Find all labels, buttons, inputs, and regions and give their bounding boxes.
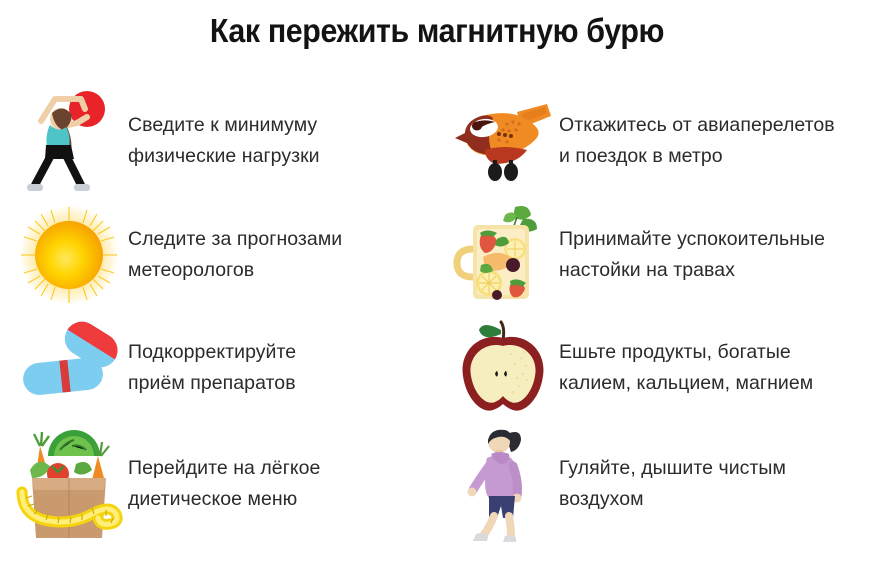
herbal-drink-mug-icon [451, 201, 555, 309]
page-title: Как пережить магнитную бурю [35, 12, 839, 50]
walking-woman-icon [451, 430, 555, 538]
tip-take-herbal-sedatives: Принимайте успокоительные настойки на тр… [437, 198, 874, 312]
tip-walk-and-breathe-fresh-air: Гуляйте, дышите чистым воздухом [437, 424, 874, 544]
halved-apple-icon [451, 314, 555, 422]
pills-capsules-icon [14, 314, 124, 422]
tip-text: Сведите к минимуму физические нагрузки [128, 110, 320, 172]
grocery-bag-measuring-tape-icon [14, 430, 124, 538]
tip-text: Перейдите на лёгкое диетическое меню [128, 453, 320, 515]
tip-text: Откажитесь от авиаперелетов и поездок в … [559, 110, 835, 172]
tip-minimize-physical-activity: Сведите к минимуму физические нагрузки [0, 84, 437, 198]
tip-text: Принимайте успокоительные настойки на тр… [559, 224, 825, 286]
tips-grid: Сведите к минимуму физические нагрузки [0, 84, 874, 554]
tip-text: Подкорректируйте приём препаратов [128, 337, 296, 399]
infographic-page: Как пережить магнитную бурю [0, 0, 874, 561]
tip-text: Ешьте продукты, богатые калием, кальцием… [559, 337, 813, 399]
tip-text: Следите за прогнозами метеорологов [128, 224, 342, 286]
woman-exercising-with-ball-icon [14, 87, 124, 195]
tip-switch-to-light-diet: Перейдите на лёгкое диетическое меню [0, 424, 437, 544]
tip-eat-potassium-rich-food: Ешьте продукты, богатые калием, кальцием… [437, 312, 874, 424]
tip-watch-weather-forecast: Следите за прогнозами метеорологов [0, 198, 437, 312]
sun-icon [14, 201, 124, 309]
cartoon-airplane-icon [451, 87, 555, 195]
tip-text: Гуляйте, дышите чистым воздухом [559, 453, 786, 515]
tip-adjust-medication: Подкорректируйте приём препаратов [0, 312, 437, 424]
tip-avoid-flights-and-metro: Откажитесь от авиаперелетов и поездок в … [437, 84, 874, 198]
